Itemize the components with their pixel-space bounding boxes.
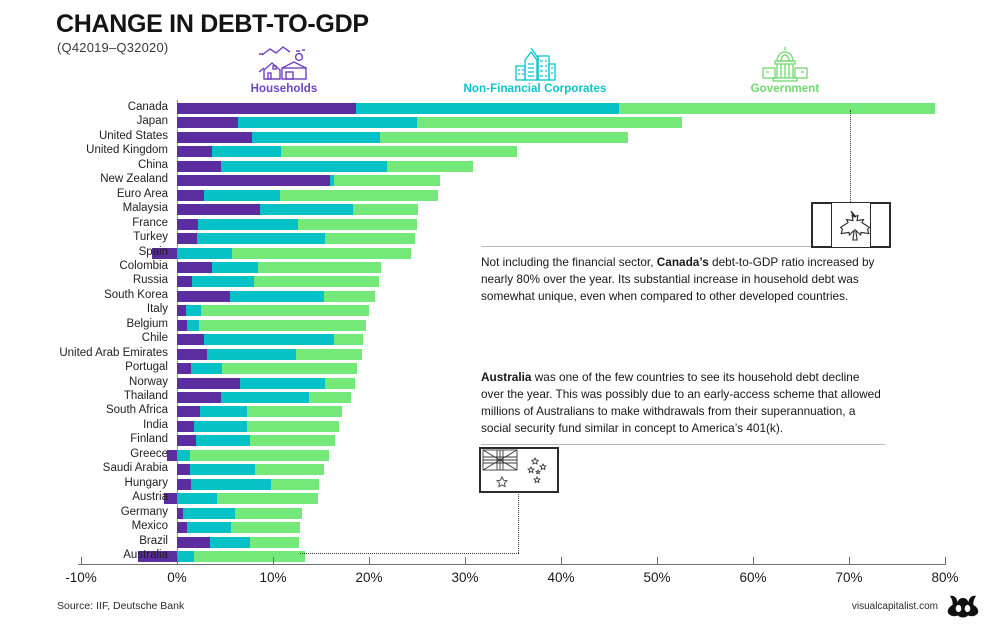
bar-segment <box>177 291 230 302</box>
bar-segment <box>192 276 253 287</box>
bar-segment <box>177 450 190 461</box>
bar-segment <box>177 421 194 432</box>
x-tick-label: 70% <box>835 570 862 585</box>
category-label: New Zealand <box>100 174 168 185</box>
bar-segment <box>204 190 280 201</box>
bar-segment <box>207 349 296 360</box>
bar-segment <box>221 161 387 172</box>
category-label: India <box>143 420 168 431</box>
x-tick <box>849 557 850 565</box>
x-tick-label: 60% <box>739 570 766 585</box>
bar-segment <box>196 435 250 446</box>
x-tick <box>369 557 370 565</box>
chart-plot-area: CanadaJapanUnited StatesUnited KingdomCh… <box>0 0 1000 625</box>
bar-segment <box>177 551 194 562</box>
bar-segment <box>356 103 619 114</box>
callout-rule-2 <box>481 444 885 445</box>
bar-segment <box>177 190 204 201</box>
category-label: Japan <box>137 116 168 127</box>
bar-segment <box>177 406 200 417</box>
bar-segment <box>177 219 198 230</box>
bar-segment <box>190 450 328 461</box>
bar-segment <box>212 146 281 157</box>
category-label: Russia <box>133 275 168 286</box>
bar-segment <box>254 276 379 287</box>
bar-segment <box>325 378 355 389</box>
category-label: Thailand <box>124 391 168 402</box>
bar-segment <box>187 522 231 533</box>
bar-segment <box>380 132 629 143</box>
bar-segment <box>177 464 190 475</box>
bar-segment <box>177 435 196 446</box>
bar-segment <box>298 219 417 230</box>
australia-flag <box>479 447 559 493</box>
category-label: France <box>132 218 168 229</box>
bar-segment <box>177 349 207 360</box>
bar-segment <box>260 204 353 215</box>
bar-segment <box>334 334 363 345</box>
bar-segment <box>247 406 342 417</box>
bar-segment <box>200 406 247 417</box>
bar-segment <box>191 363 222 374</box>
x-tick <box>657 557 658 565</box>
australia-leader-h <box>300 553 519 554</box>
bar-segment <box>217 493 318 504</box>
source-note: Source: IIF, Deutsche Bank <box>57 600 184 612</box>
x-tick <box>273 557 274 565</box>
bar-segment <box>232 248 412 259</box>
bar-segment <box>250 537 299 548</box>
bar-segment <box>334 175 440 186</box>
x-tick <box>753 557 754 565</box>
x-tick <box>561 557 562 565</box>
category-label: Portugal <box>125 362 168 373</box>
canada-leader-line <box>850 110 851 202</box>
bar-segment <box>309 392 350 403</box>
infographic-root: CHANGE IN DEBT-TO-GDP (Q42019–Q32020) Ho… <box>0 0 1000 625</box>
bar-segment <box>258 262 382 273</box>
bar-segment <box>177 320 187 331</box>
x-axis-line <box>78 564 945 565</box>
bar-segment <box>194 551 304 562</box>
australia-callout-text: Australia was one of the few countries t… <box>481 369 885 437</box>
category-label: Spain <box>139 247 168 258</box>
category-label: Canada <box>128 102 168 113</box>
x-tick-label: 0% <box>167 570 187 585</box>
bar-segment <box>177 161 221 172</box>
x-tick-label: 30% <box>451 570 478 585</box>
bar-segment <box>417 117 682 128</box>
bar-segment <box>190 464 254 475</box>
bar-segment <box>210 537 250 548</box>
canada-callout: Not including the financial sector, Cana… <box>481 246 885 305</box>
category-label: South Africa <box>106 405 168 416</box>
x-tick-label: 40% <box>547 570 574 585</box>
bar-segment <box>255 464 324 475</box>
category-label: Brazil <box>139 536 168 547</box>
bar-segment <box>177 233 197 244</box>
x-tick-label: 50% <box>643 570 670 585</box>
bar-segment <box>204 334 335 345</box>
x-tick-label: 10% <box>259 570 286 585</box>
category-label: Greece <box>130 449 168 460</box>
bar-segment <box>201 305 369 316</box>
bar-segment <box>619 103 936 114</box>
bar-segment <box>271 479 319 490</box>
category-label: Colombia <box>119 261 168 272</box>
category-label: South Korea <box>104 290 168 301</box>
credit-text: visualcapitalist.com <box>852 601 938 612</box>
category-label: Malaysia <box>123 203 168 214</box>
x-tick <box>945 557 946 565</box>
category-label: Turkey <box>133 232 168 243</box>
bar-segment <box>252 132 380 143</box>
bar-segment <box>281 146 517 157</box>
bar-segment <box>177 132 252 143</box>
category-label: Austria <box>132 492 168 503</box>
bar-segment <box>238 117 417 128</box>
bar-segment <box>212 262 258 273</box>
bar-segment <box>197 233 325 244</box>
bar-segment <box>280 190 438 201</box>
x-tick-label: -10% <box>65 570 97 585</box>
bar-segment <box>194 421 247 432</box>
x-tick <box>81 557 82 565</box>
bar-segment <box>177 204 260 215</box>
category-label: United Kingdom <box>86 145 168 156</box>
bar-segment <box>177 276 192 287</box>
bar-segment <box>177 537 210 548</box>
category-label: Finland <box>130 434 168 445</box>
australia-leader-line <box>518 491 519 553</box>
bar-segment <box>235 508 302 519</box>
canada-callout-text: Not including the financial sector, Cana… <box>481 254 885 305</box>
bar-segment <box>183 508 235 519</box>
bar-segment <box>199 320 366 331</box>
bar-segment <box>167 450 177 461</box>
category-label: Italy <box>147 304 168 315</box>
bar-segment <box>325 233 415 244</box>
bar-segment <box>177 305 186 316</box>
bar-segment <box>250 435 335 446</box>
bar-segment <box>231 522 300 533</box>
category-label: United Arab Emirates <box>59 348 168 359</box>
x-tick-label: 80% <box>931 570 958 585</box>
x-tick-label: 20% <box>355 570 382 585</box>
bar-segment <box>177 262 212 273</box>
bar-segment <box>177 146 212 157</box>
bar-segment <box>177 175 330 186</box>
category-label: Hungary <box>125 478 168 489</box>
bar-segment <box>230 291 324 302</box>
bar-segment <box>177 493 217 504</box>
category-label: Saudi Arabia <box>103 463 168 474</box>
bar-segment <box>177 378 240 389</box>
visual-capitalist-logo <box>946 594 980 623</box>
canada-flag <box>811 202 891 248</box>
bar-segment <box>387 161 472 172</box>
x-tick <box>177 557 178 565</box>
bar-segment <box>177 248 232 259</box>
bar-segment <box>177 363 191 374</box>
bar-segment <box>247 421 339 432</box>
category-label: Australia <box>123 550 168 561</box>
bar-segment <box>177 103 356 114</box>
category-label: Euro Area <box>117 189 168 200</box>
category-label: Chile <box>142 333 168 344</box>
bar-segment <box>221 392 309 403</box>
bar-segment <box>324 291 375 302</box>
x-tick <box>465 557 466 565</box>
bar-segment <box>177 479 191 490</box>
category-label: Belgium <box>126 319 168 330</box>
bar-segment <box>177 522 187 533</box>
category-label: Mexico <box>132 521 168 532</box>
bar-segment <box>222 363 356 374</box>
bar-segment <box>240 378 324 389</box>
category-label: China <box>138 160 168 171</box>
category-label: Germany <box>121 507 168 518</box>
australia-callout: Australia was one of the few countries t… <box>481 369 885 445</box>
bar-segment <box>191 479 271 490</box>
category-label: United States <box>99 131 168 142</box>
bar-segment <box>187 320 199 331</box>
bar-segment <box>177 392 221 403</box>
bar-segment <box>198 219 298 230</box>
category-label: Norway <box>129 377 168 388</box>
bar-segment <box>296 349 362 360</box>
bar-segment <box>177 334 204 345</box>
bar-segment <box>177 117 238 128</box>
bar-segment <box>186 305 201 316</box>
bar-segment <box>353 204 418 215</box>
